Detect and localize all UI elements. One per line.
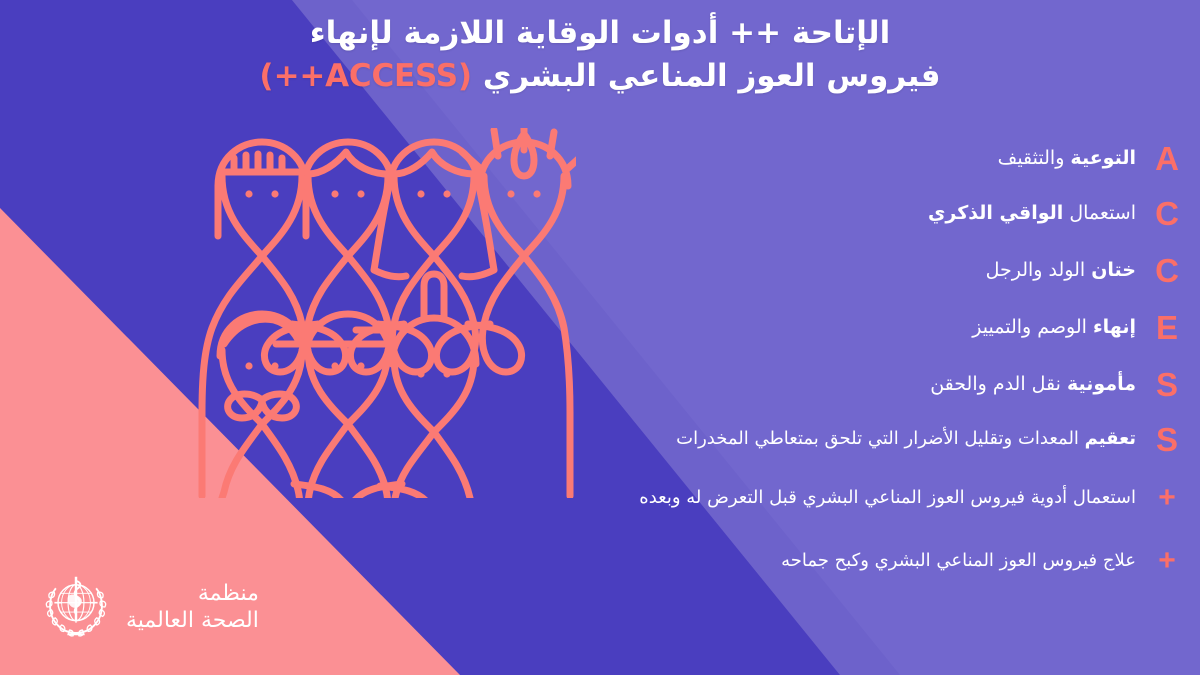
list-item-letter: C	[1150, 252, 1184, 291]
list-item-rest: المعدات وتقليل الأضرار التي تلحق بمتعاطي…	[676, 428, 1085, 449]
list-item-text: استعمال أدوية فيروس العوز المناعي البشري…	[494, 480, 1136, 510]
list-item-bold: تعقيم	[1085, 428, 1136, 449]
figure-3	[374, 142, 494, 372]
list-item-bold: إنهاء	[1093, 316, 1136, 338]
list-item-letter: S	[1150, 421, 1184, 460]
plus-icon: +	[1150, 543, 1184, 578]
list-item-text: التوعية والتثقيف	[494, 140, 1136, 171]
who-text-line-2: الصحة العالمية	[126, 607, 259, 634]
list-item: + استعمال أدوية فيروس العوز المناعي البش…	[494, 480, 1184, 515]
list-item-text: مأمونية نقل الدم والحقن	[494, 366, 1136, 397]
figure-7	[380, 274, 476, 498]
page-title: الإتاحة ++ أدوات الوقاية اللازمة لإنهاء …	[0, 12, 1200, 98]
plus-icon: +	[1150, 480, 1184, 515]
who-logo: منظمة الصحة العالمية	[40, 571, 259, 643]
list-item-rest: استعمال أدوية فيروس العوز المناعي البشري…	[639, 487, 1136, 508]
list-item-bold: ختان	[1091, 259, 1136, 281]
title-line-2-main: فيروس العوز المناعي البشري	[472, 58, 941, 94]
list-item: S تعقيم المعدات وتقليل الأضرار التي تلحق…	[494, 421, 1184, 460]
list-item-bold: التوعية	[1070, 147, 1136, 169]
list-item-text: إنهاء الوصم والتمييز	[494, 309, 1136, 340]
list-item-lead: استعمال	[1063, 202, 1136, 224]
title-line-2: فيروس العوز المناعي البشري (ACCESS++)	[80, 55, 1120, 98]
list-item-text: تعقيم المعدات وتقليل الأضرار التي تلحق ب…	[494, 421, 1136, 451]
list-item-text: ختان الولد والرجل	[494, 252, 1136, 283]
list-item-bold: الواقي الذكري	[928, 202, 1063, 224]
poster: الإتاحة ++ أدوات الوقاية اللازمة لإنهاء …	[0, 0, 1200, 675]
list-item: C ختان الولد والرجل	[494, 252, 1184, 291]
figure-6	[292, 314, 402, 498]
title-line-1: الإتاحة ++ أدوات الوقاية اللازمة لإنهاء	[80, 12, 1120, 55]
list-item-text: علاج فيروس العوز المناعي البشري وكبح جما…	[494, 543, 1136, 573]
who-logo-text: منظمة الصحة العالمية	[126, 580, 259, 635]
list-item-text: استعمال الواقي الذكري	[494, 195, 1136, 226]
list-item-rest: الوصم والتمييز	[972, 316, 1093, 338]
list-item-rest: علاج فيروس العوز المناعي البشري وكبح جما…	[781, 550, 1136, 571]
who-emblem-icon	[40, 571, 112, 643]
who-text-line-1: منظمة	[126, 580, 259, 607]
list-item: E إنهاء الوصم والتمييز	[494, 309, 1184, 348]
list-item-letter: S	[1150, 366, 1184, 405]
list-item: + علاج فيروس العوز المناعي البشري وكبح ج…	[494, 543, 1184, 578]
list-item-letter: A	[1150, 140, 1184, 179]
title-acronym: (ACCESS++)	[259, 58, 472, 94]
list-item: S مأمونية نقل الدم والحقن	[494, 366, 1184, 405]
list-item-rest: والتثقيف	[998, 147, 1071, 169]
list-item: C استعمال الواقي الذكري	[494, 195, 1184, 234]
list-item-bold: مأمونية	[1067, 373, 1136, 395]
list-item-letter: E	[1150, 309, 1184, 348]
access-list: A التوعية والتثقيف C استعمال الواقي الذك…	[494, 140, 1184, 584]
list-item: A التوعية والتثقيف	[494, 140, 1184, 179]
list-item-rest: نقل الدم والحقن	[930, 373, 1067, 395]
list-item-rest: الولد والرجل	[986, 259, 1092, 281]
list-item-letter: C	[1150, 195, 1184, 234]
